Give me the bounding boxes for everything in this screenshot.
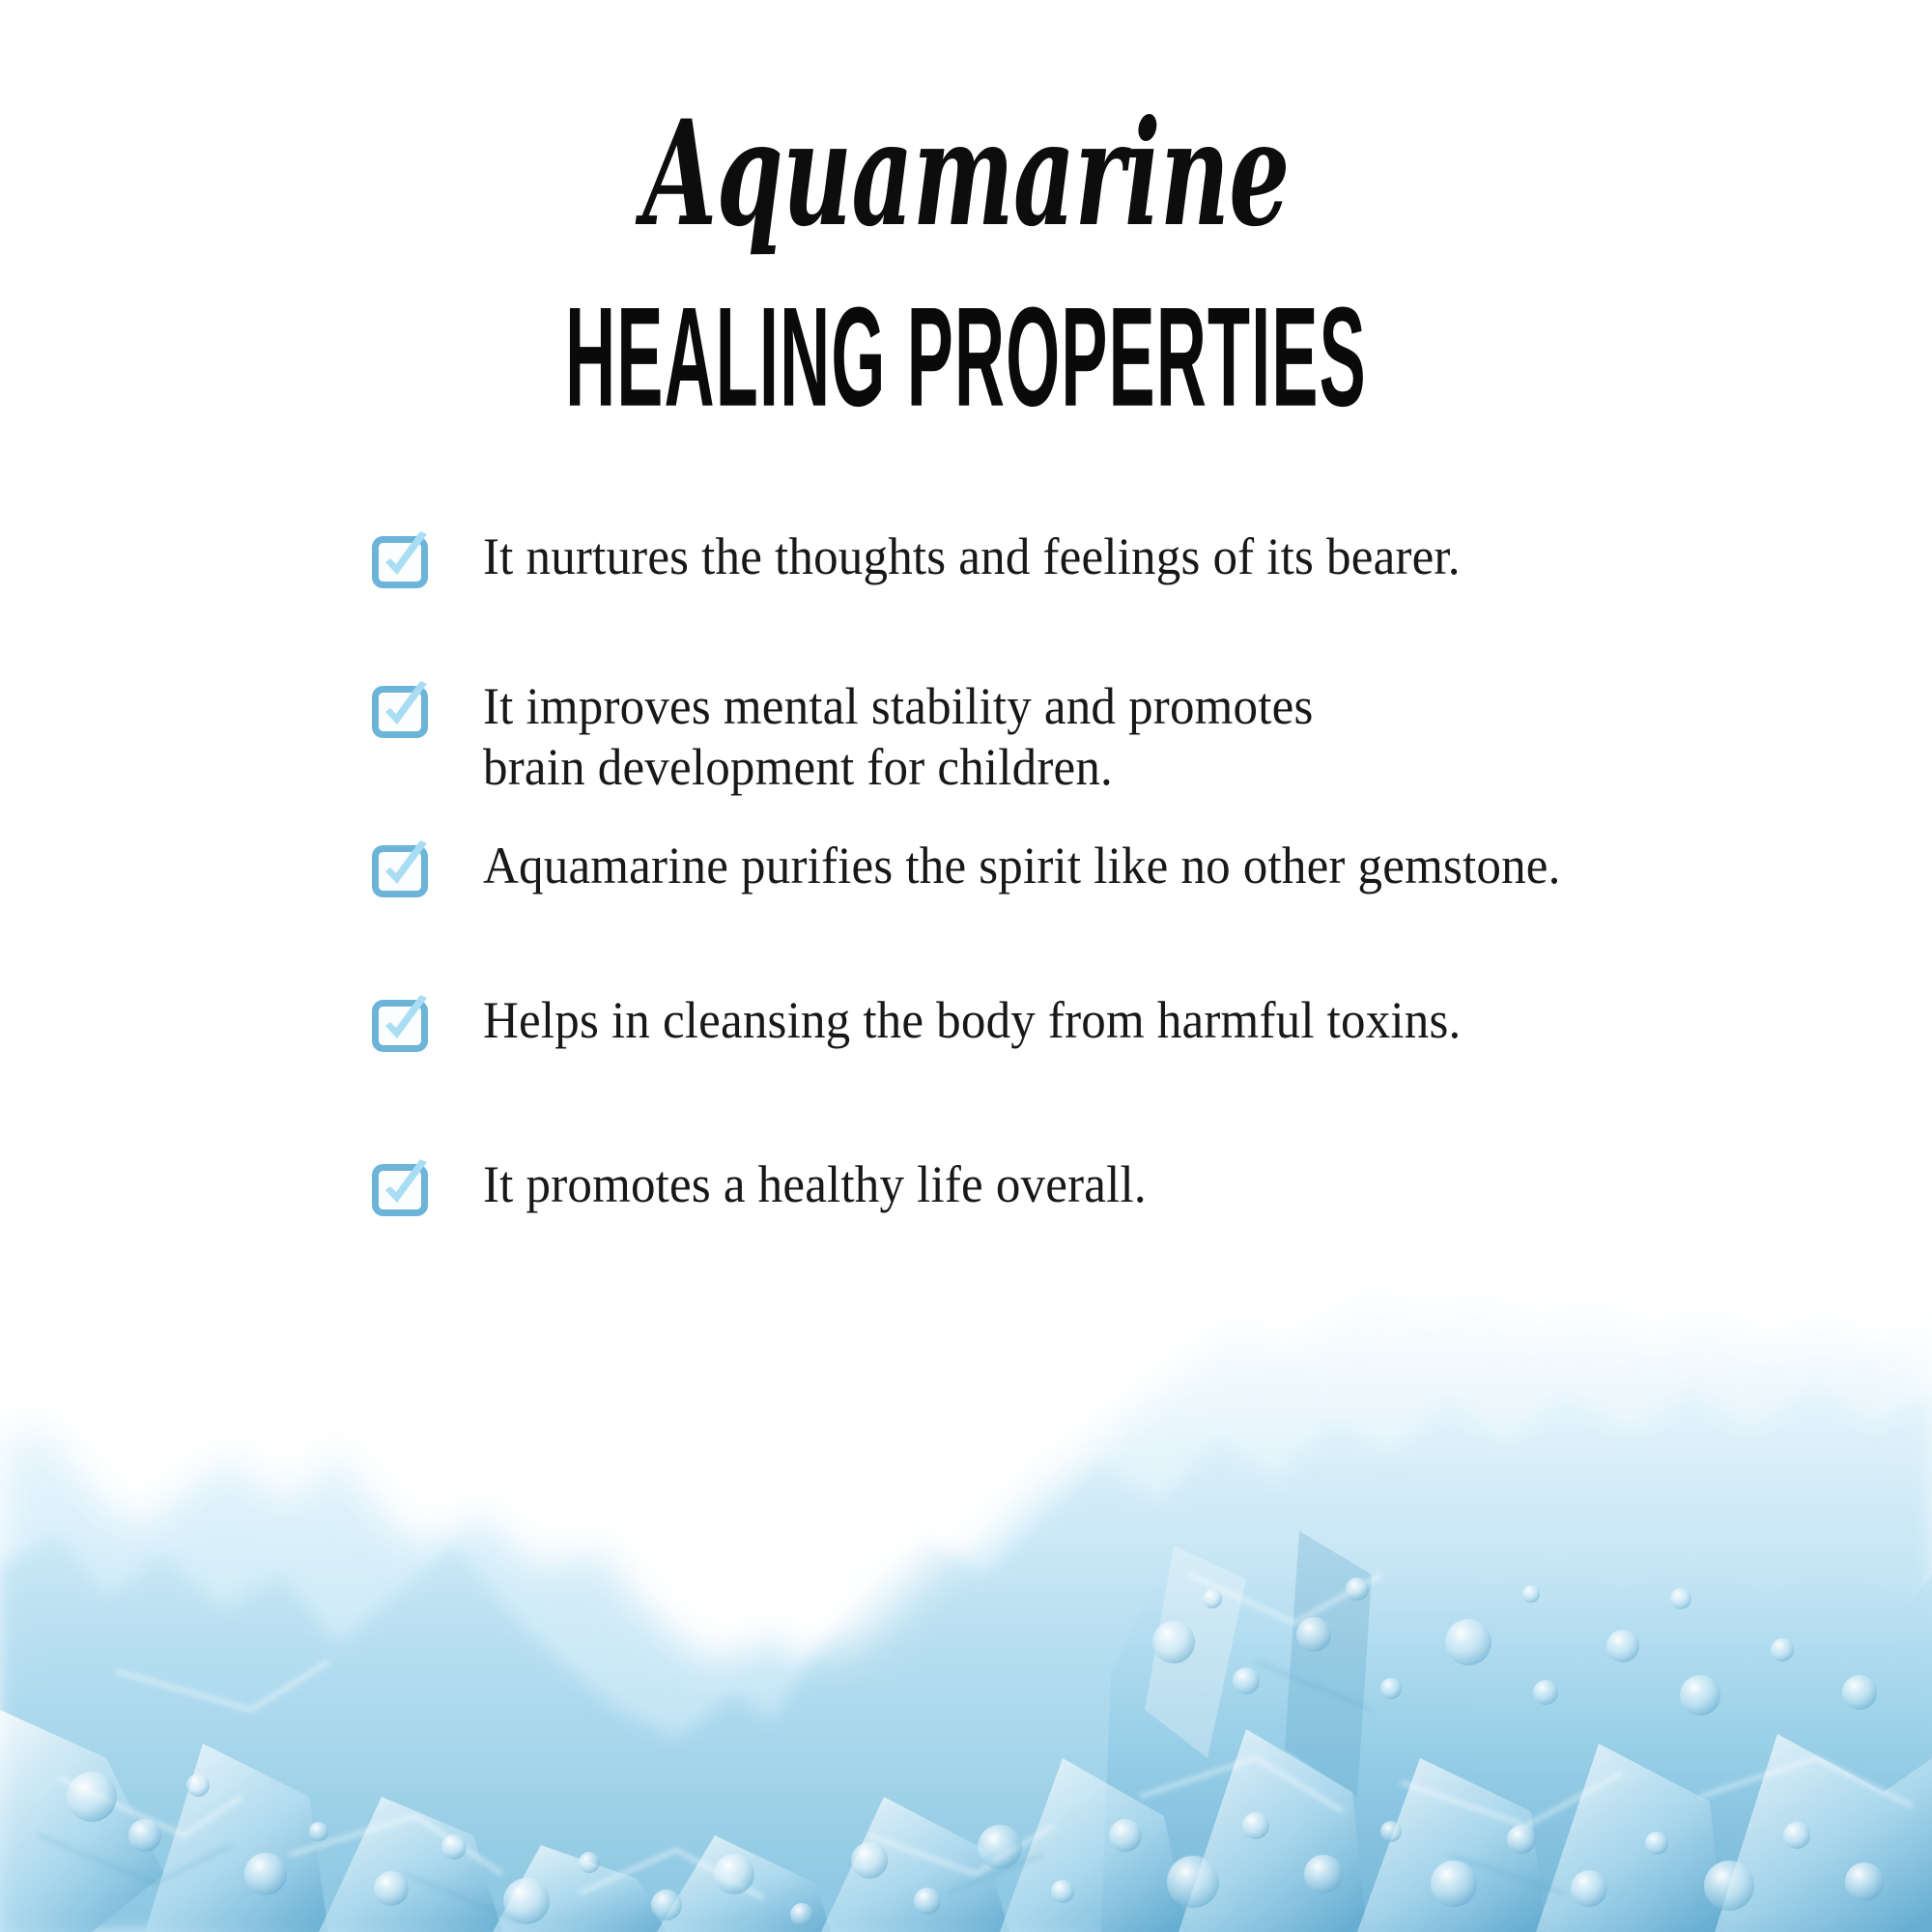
poster-canvas: Aquamarine HEALING PROPERTIES It nurture… bbox=[0, 0, 1932, 1932]
list-item-label: Aquamarine purifies the spirit like no o… bbox=[483, 836, 1561, 896]
list-item[interactable]: It improves mental stability and promote… bbox=[372, 676, 1362, 797]
header: Aquamarine HEALING PROPERTIES bbox=[0, 0, 1932, 395]
list-item[interactable]: Aquamarine purifies the spirit like no o… bbox=[372, 836, 1624, 901]
list-item[interactable]: Helps in cleansing the body from harmful… bbox=[372, 990, 1518, 1056]
checkbox-checked-icon[interactable] bbox=[372, 996, 432, 1056]
list-item-label: It nurtures the thoughts and feelings of… bbox=[483, 526, 1461, 587]
checkbox-checked-icon[interactable] bbox=[372, 1160, 432, 1220]
list-item-label: It promotes a healthy life overall. bbox=[483, 1154, 1147, 1215]
list-item-label: It improves mental stability and promote… bbox=[483, 676, 1314, 797]
list-item[interactable]: It promotes a healthy life overall. bbox=[372, 1154, 1185, 1220]
checkbox-checked-icon[interactable] bbox=[372, 841, 432, 901]
list-item-label: Helps in cleansing the body from harmful… bbox=[483, 990, 1461, 1051]
crushed-ice-cubes-photo bbox=[0, 1256, 1932, 1932]
list-item[interactable]: It nurtures the thoughts and feelings of… bbox=[372, 526, 1518, 592]
page-subtitle: HEALING PROPERTIES bbox=[386, 246, 1546, 428]
page-title: Aquamarine bbox=[328, 0, 1604, 246]
checkbox-checked-icon[interactable] bbox=[372, 532, 432, 592]
checkbox-checked-icon[interactable] bbox=[372, 682, 432, 742]
